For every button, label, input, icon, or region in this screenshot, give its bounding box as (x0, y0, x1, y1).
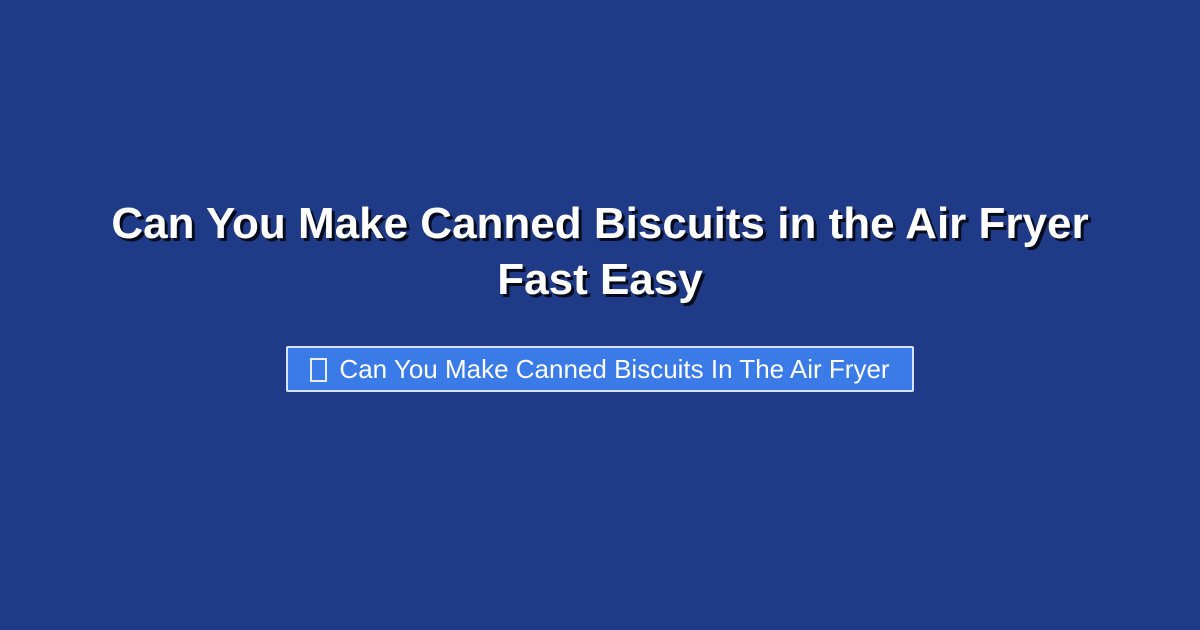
page-title: Can You Make Canned Biscuits in the Air … (80, 196, 1120, 308)
social-share-card: Can You Make Canned Biscuits in the Air … (0, 0, 1200, 630)
missing-glyph-box-icon (310, 358, 327, 382)
card-content: Can You Make Canned Biscuits in the Air … (0, 196, 1200, 392)
cta-button[interactable]: Can You Make Canned Biscuits In The Air … (286, 346, 913, 392)
cta-container: Can You Make Canned Biscuits In The Air … (0, 346, 1200, 392)
cta-button-label: Can You Make Canned Biscuits In The Air … (339, 356, 889, 382)
